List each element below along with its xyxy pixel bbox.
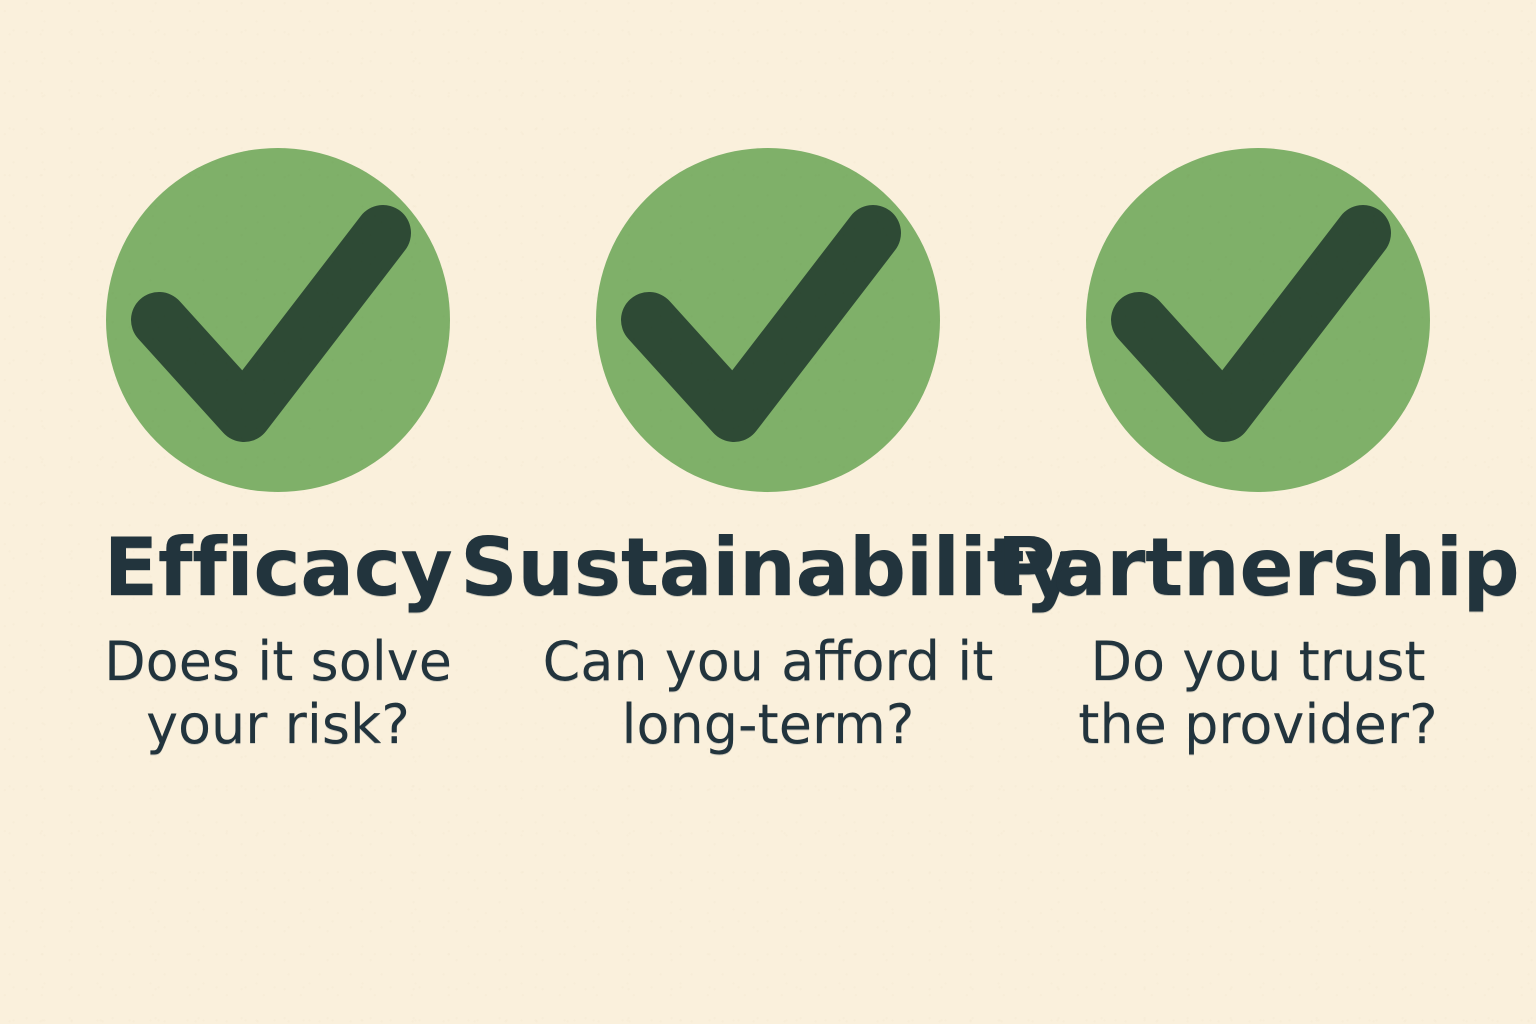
- infographic-canvas: Efficacy Does it solve your risk? Sustai…: [0, 0, 1536, 1024]
- criterion-subtitle: Do you trust the provider?: [1078, 630, 1437, 756]
- criterion-column-efficacy: Efficacy Does it solve your risk?: [33, 0, 523, 756]
- criterion-column-partnership: Partnership Do you trust the provider?: [1013, 0, 1503, 756]
- criteria-columns: Efficacy Does it solve your risk? Sustai…: [0, 0, 1536, 1024]
- check-circle-icon: [106, 148, 450, 492]
- criterion-title: Sustainability: [460, 528, 1076, 608]
- criterion-subtitle: Does it solve your risk?: [104, 630, 452, 756]
- check-circle-icon: [596, 148, 940, 492]
- criterion-title: Efficacy: [104, 528, 453, 608]
- criterion-column-sustainability: Sustainability Can you afford it long-te…: [523, 0, 1013, 756]
- criterion-subtitle: Can you afford it long-term?: [543, 630, 994, 756]
- criterion-title: Partnership: [997, 528, 1520, 608]
- check-circle-icon: [1086, 148, 1430, 492]
